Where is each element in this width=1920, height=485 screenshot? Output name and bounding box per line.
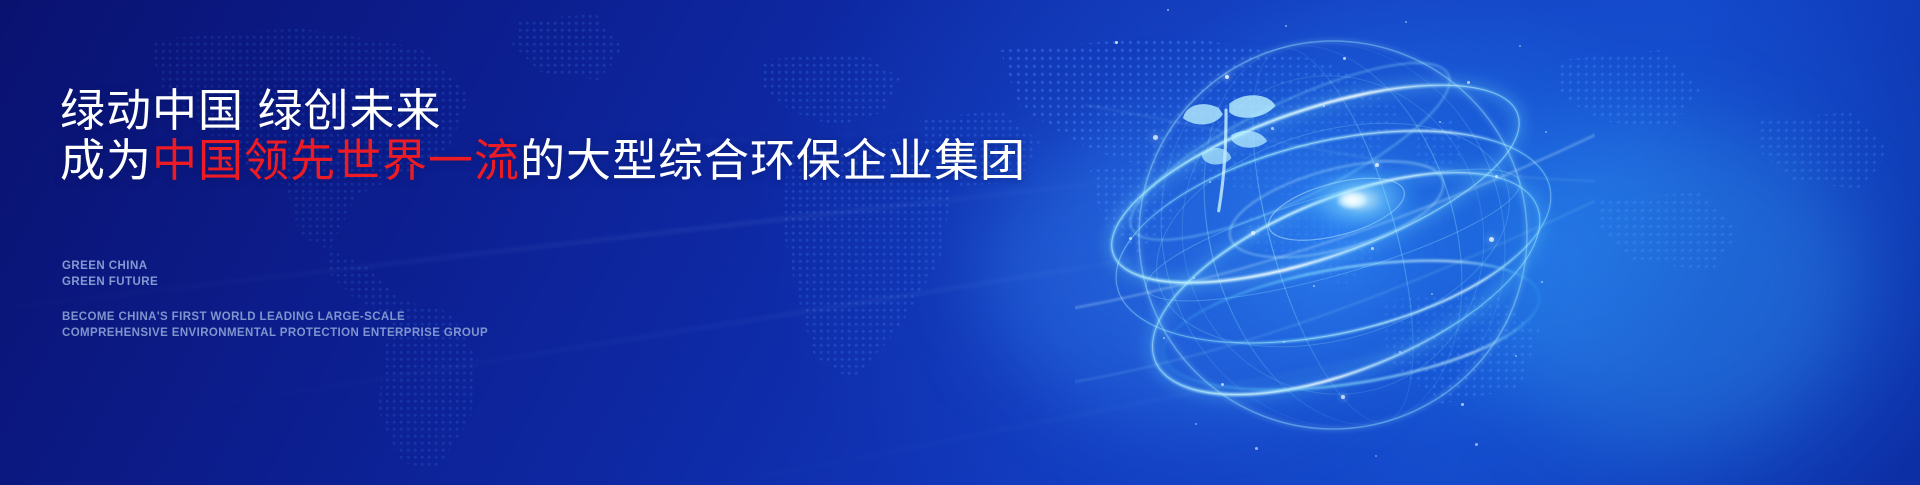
banner-text-content: 绿动中国 绿创未来 成为中国领先世界一流的大型综合环保企业集团 GREEN CH… (60, 0, 1060, 485)
headline-prefix: 成为 (60, 135, 152, 186)
sprout-leaf-icon (1183, 95, 1275, 211)
headline-suffix: 的大型综合环保企业集团 (520, 135, 1026, 186)
headline-highlight: 中国领先世界一流 (152, 135, 520, 186)
subtitle-english-line-1: GREEN CHINA (62, 258, 158, 274)
description-english-line-1: BECOME CHINA'S FIRST WORLD LEADING LARGE… (62, 309, 488, 325)
subtitle-english: GREEN CHINA GREEN FUTURE (62, 258, 158, 291)
core-flare (1300, 165, 1420, 235)
background-glow (1480, 120, 1860, 450)
headline-line-1: 绿动中国 绿创未来 (60, 88, 442, 133)
wireframe-globe-icon (1075, 0, 1595, 485)
promotional-banner: 绿动中国 绿创未来 成为中国领先世界一流的大型综合环保企业集团 GREEN CH… (0, 0, 1920, 485)
starfield-particles (1075, 0, 1595, 485)
headline-line-2: 成为中国领先世界一流的大型综合环保企业集团 (60, 138, 1026, 183)
description-english-line-2: COMPREHENSIVE ENVIRONMENTAL PROTECTION E… (62, 325, 488, 341)
globe-graphic (1075, 0, 1595, 485)
description-english: BECOME CHINA'S FIRST WORLD LEADING LARGE… (62, 309, 488, 342)
subtitle-english-line-2: GREEN FUTURE (62, 274, 158, 290)
core-flare-center (1337, 191, 1367, 209)
headline-line-1-text: 绿动中国 绿创未来 (60, 85, 442, 136)
